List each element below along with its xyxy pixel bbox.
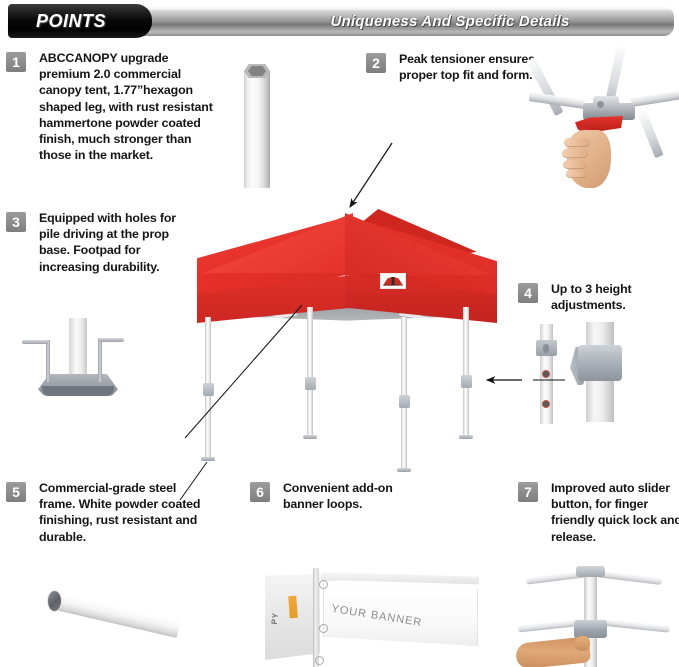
- tube-open-end: [47, 590, 62, 612]
- infographic-page: Uniqueness And Specific Details POINTS 1…: [0, 0, 679, 667]
- truss-bar-up-left: [526, 57, 563, 116]
- point-description: Convenient add-on banner loops.: [283, 480, 433, 512]
- banner-loop-top: [319, 580, 328, 589]
- point-description: ABCCANOPY upgrade premium 2.0 commercial…: [39, 50, 219, 163]
- header-points-label: POINTS: [36, 11, 106, 32]
- banner-loops-image: PY YOUR BANNER: [265, 568, 480, 667]
- point-number-badge: 3: [6, 212, 26, 232]
- leg-foot: [303, 435, 317, 439]
- leg-slider: [305, 377, 316, 390]
- stake-left-arm: [22, 340, 48, 344]
- point-description: Commercial-grade steel frame. White powd…: [39, 480, 204, 545]
- leader-line-peak: [350, 143, 392, 207]
- thumb-graphic: [574, 636, 590, 651]
- peak-tensioner-image: [545, 50, 679, 200]
- stake-right-arm: [98, 338, 124, 342]
- truss-bar-right: [631, 90, 679, 107]
- point-description: Improved auto slider button, for finger …: [551, 480, 679, 545]
- leg-foot: [397, 468, 411, 472]
- abccanopy-logo: ABCCANOPY: [380, 273, 406, 289]
- tent-leg-front-right: [401, 317, 407, 470]
- point-number-badge: 5: [6, 482, 26, 502]
- point-description: Up to 3 height adjustments.: [551, 281, 676, 313]
- adjust-leg-slider-collar: [536, 340, 557, 356]
- peak-hub-pin: [597, 101, 604, 108]
- stake-right: [98, 338, 102, 382]
- adjust-hole-upper: [542, 370, 550, 378]
- tent-leg-center: [307, 307, 313, 437]
- point-number-badge: 7: [518, 482, 538, 502]
- upper-hub: [576, 566, 605, 577]
- leg-foot: [201, 457, 215, 461]
- canopy-peak-left: [203, 213, 353, 273]
- leg-slider: [399, 395, 410, 408]
- finger-graphic: [564, 138, 590, 147]
- leg-foot: [459, 435, 473, 439]
- header-points-tab: POINTS: [8, 4, 152, 38]
- steel-tube-image: [40, 588, 180, 640]
- valance-logo-stripe: [288, 596, 298, 619]
- point-description: Equipped with holes for pile driving at …: [39, 210, 189, 275]
- stake-left: [46, 340, 50, 382]
- truss-arm-mid-right: [598, 618, 670, 632]
- tube-shaft: [50, 592, 180, 638]
- footpad-image: [14, 318, 144, 418]
- banner-loop-bottom: [315, 656, 324, 665]
- leg-slider: [203, 383, 214, 396]
- height-adjustment-image: [520, 322, 670, 427]
- truss-arm-top-right: [596, 570, 662, 585]
- finger-graphic: [566, 170, 587, 178]
- tent-leg-rear-right: [463, 307, 469, 437]
- adjust-hole-lower: [542, 400, 550, 408]
- header-banner: Uniqueness And Specific Details POINTS: [0, 4, 679, 40]
- point-description: Peak tensioner ensures proper top fit an…: [399, 51, 539, 83]
- point-number-badge: 6: [250, 482, 270, 502]
- tube-body: [244, 70, 270, 188]
- banner-loop-mid: [319, 624, 328, 633]
- hexagon-leg-tube-image: [240, 60, 274, 188]
- finger-graphic: [563, 160, 587, 169]
- point-number-badge: 4: [518, 283, 538, 303]
- finger-graphic: [562, 149, 588, 158]
- footpad-plate-edge: [42, 386, 114, 396]
- leg-slider: [461, 375, 472, 388]
- truss-bar-down-right: [637, 110, 663, 158]
- logo-wordmark: ABCCANOPY: [383, 283, 403, 287]
- adjust-slider-collar-closeup: [578, 345, 622, 381]
- footpad-leg: [69, 318, 87, 380]
- canopy-tent-image: ABCCANOPY: [195, 205, 500, 480]
- valance-brand-text: PY: [270, 612, 280, 625]
- auto-slider-button-image: [512, 560, 679, 667]
- tube-hex-bore: [248, 66, 266, 76]
- point-number-badge: 2: [366, 53, 386, 73]
- point-number-badge: 1: [6, 52, 26, 72]
- page-title: Uniqueness And Specific Details: [250, 13, 650, 30]
